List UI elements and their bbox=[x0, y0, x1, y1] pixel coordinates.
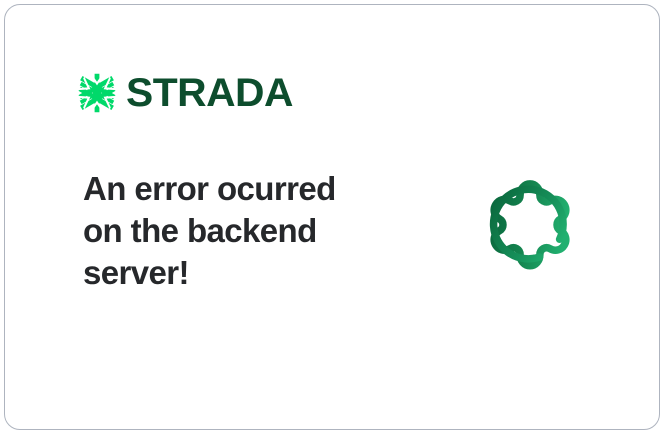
strada-mark-wrap bbox=[77, 73, 117, 113]
brand-wordmark: STRADA bbox=[126, 73, 293, 113]
gear-cog-icon bbox=[451, 146, 609, 304]
error-card: STRADA An error ocurred on the backend s… bbox=[4, 4, 660, 430]
asterisk-star-icon bbox=[77, 73, 117, 113]
error-message: An error ocurred on the backend server! bbox=[83, 168, 373, 294]
brand-logo: STRADA bbox=[77, 73, 290, 113]
